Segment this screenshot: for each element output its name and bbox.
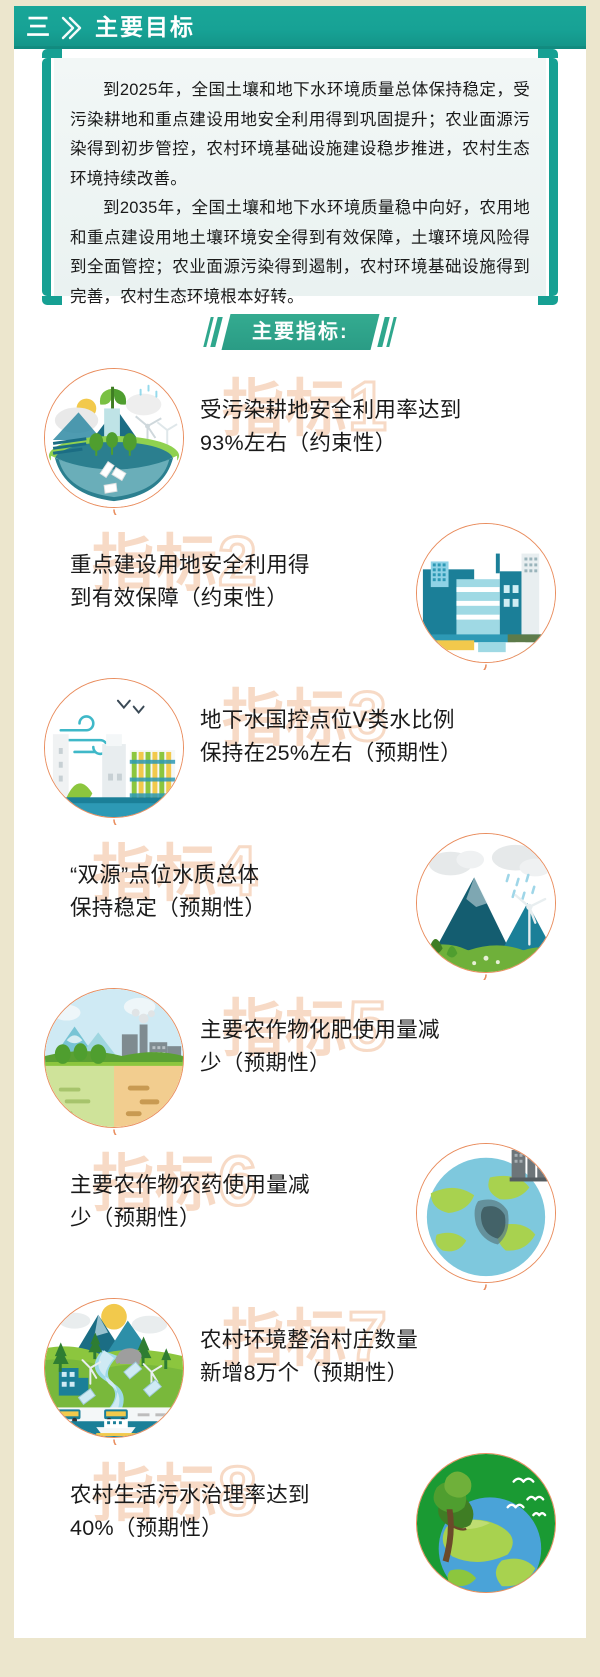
bracket-left-decoration bbox=[42, 58, 51, 296]
list-item[interactable]: 指标3 地下水国控点位Ⅴ类水比例 保持在25%左右（预期性） bbox=[0, 670, 600, 825]
list-item-label: 受污染耕地安全利用率达到 93%左右（约束性） bbox=[200, 394, 530, 460]
indicator-list: 指标1 受污染耕地安全利用率达到 93%左右（约束性） bbox=[0, 360, 600, 1600]
section-number: 三 bbox=[26, 16, 51, 40]
double-chevron-right-icon bbox=[59, 15, 85, 41]
list-item-label: 农村环境整治村庄数量 新增8万个（预期性） bbox=[200, 1324, 530, 1390]
ribbon-body: 主要指标: bbox=[221, 314, 379, 350]
bracket-right-decoration bbox=[549, 58, 558, 296]
rain-mountain-windmill-icon bbox=[416, 833, 556, 973]
indicator-text: 农村环境整治村庄数量 新增8万个（预期性） bbox=[200, 1324, 530, 1390]
pesticide-globe-factory-icon bbox=[416, 1143, 556, 1283]
list-item[interactable]: 指标8 农村生活污水治理率达到 40%（预期性） bbox=[0, 1445, 600, 1600]
list-item-label: “双源”点位水质总体 保持稳定（预期性） bbox=[70, 859, 400, 925]
infographic-page: 三 主要目标 到2025年，全国土壤和地下水环境质量总体保持稳定，受污染耕地和重… bbox=[0, 0, 600, 1677]
indicator-text: 农村生活污水治理率达到 40%（预期性） bbox=[70, 1479, 400, 1545]
indicator-text: “双源”点位水质总体 保持稳定（预期性） bbox=[70, 859, 400, 925]
goal-paragraph-2025: 到2025年，全国土壤和地下水环境质量总体保持稳定，受污染耕地和重点建设用地安全… bbox=[70, 76, 530, 194]
footer-strip bbox=[14, 1638, 586, 1644]
construction-land-buildings-icon bbox=[416, 523, 556, 663]
main-indicators-ribbon: 主要指标: bbox=[0, 312, 600, 352]
indicator-text: 主要农作物化肥使用量减 少（预期性） bbox=[200, 1014, 530, 1080]
list-item-label: 主要农作物化肥使用量减 少（预期性） bbox=[200, 1014, 530, 1080]
list-item-label: 主要农作物农药使用量减 少（预期性） bbox=[70, 1169, 400, 1235]
section-header-bar: 三 主要目标 bbox=[14, 6, 586, 49]
indicator-text: 重点建设用地安全利用得 到有效保障（约束性） bbox=[70, 549, 400, 615]
list-item[interactable]: 指标1 受污染耕地安全利用率达到 93%左右（约束性） bbox=[0, 360, 600, 515]
indicator-text: 受污染耕地安全利用率达到 93%左右（约束性） bbox=[200, 394, 530, 460]
page-title: 主要目标 bbox=[95, 16, 195, 39]
goal-paragraph-2035: 到2035年，全国土壤和地下水环境质量稳中向好，农用地和重点建设用地土壤环境安全… bbox=[70, 194, 530, 312]
indicator-text: 地下水国控点位Ⅴ类水比例 保持在25%左右（预期性） bbox=[200, 704, 530, 770]
groundwater-monitoring-birds-icon bbox=[44, 678, 184, 818]
polluted-farmland-eco-city-icon bbox=[44, 368, 184, 508]
list-item[interactable]: 指标5 主要农作物化肥使用量减 少（预期性） bbox=[0, 980, 600, 1135]
goals-quote-card: 到2025年，全国土壤和地下水环境质量总体保持稳定，受污染耕地和重点建设用地安全… bbox=[42, 58, 558, 296]
list-item-label: 农村生活污水治理率达到 40%（预期性） bbox=[70, 1479, 400, 1545]
main-indicators-label: 主要指标: bbox=[252, 319, 349, 345]
goals-text-body: 到2025年，全国土壤和地下水环境质量总体保持稳定，受污染耕地和重点建设用地安全… bbox=[54, 58, 546, 296]
list-item[interactable]: 指标6 主要农作物农药使用量减 少（预期性） bbox=[0, 1135, 600, 1290]
fertilizer-soil-factory-icon bbox=[44, 988, 184, 1128]
list-item-label: 地下水国控点位Ⅴ类水比例 保持在25%左右（预期性） bbox=[200, 704, 530, 770]
list-item[interactable]: 指标2 重点建设用地安全利用得 到有效保障（约束性） bbox=[0, 515, 600, 670]
list-item[interactable]: 指标4 “双源”点位水质总体 保持稳定（预期性） bbox=[0, 825, 600, 980]
list-item[interactable]: 指标7 农村环境整治村庄数量 新增8万个（预期性） bbox=[0, 1290, 600, 1445]
list-item-label: 重点建设用地安全利用得 到有效保障（约束性） bbox=[70, 549, 400, 615]
indicator-text: 主要农作物农药使用量减 少（预期性） bbox=[70, 1169, 400, 1235]
green-earth-tree-birds-icon bbox=[416, 1453, 556, 1593]
rural-village-river-icon bbox=[44, 1298, 184, 1438]
